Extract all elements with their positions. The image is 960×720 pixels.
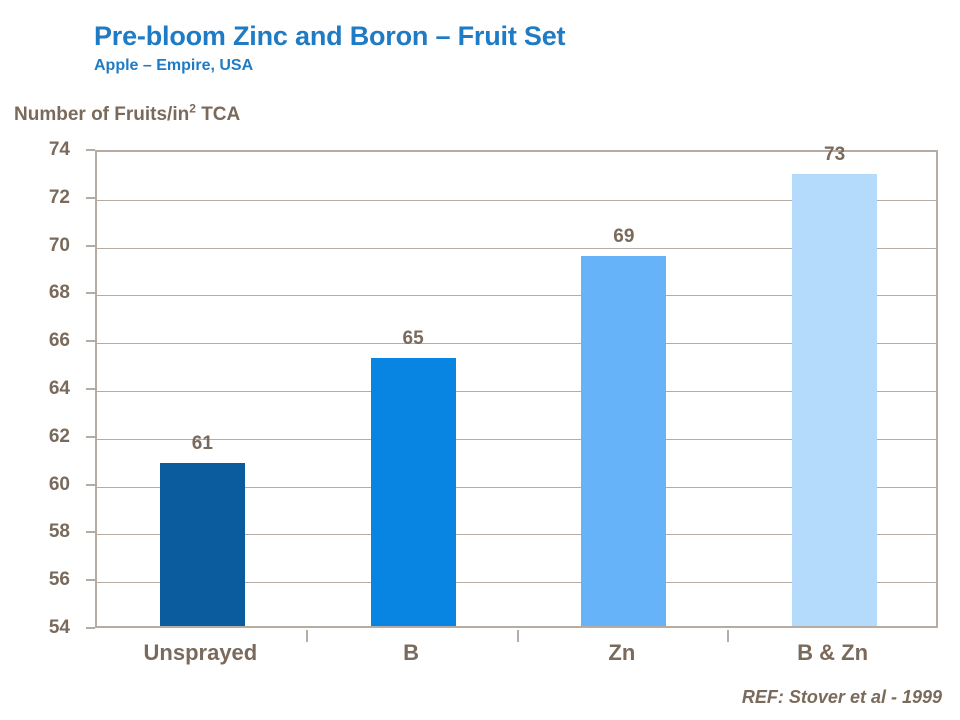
y-axis-tick-mark xyxy=(86,484,95,486)
y-axis-tick-mark xyxy=(86,627,95,629)
y-axis-tick-label: 72 xyxy=(26,187,70,209)
bar-value-label: 69 xyxy=(613,226,634,248)
bar[interactable] xyxy=(371,358,456,626)
y-axis-tick-mark xyxy=(86,388,95,390)
y-axis-tick-marks xyxy=(86,150,95,628)
x-axis-tick-label: B & Zn xyxy=(797,640,868,666)
bar-series: 61656973 xyxy=(97,152,936,626)
x-axis-tick-label: Unsprayed xyxy=(144,640,258,666)
y-axis-tick-mark xyxy=(86,531,95,533)
bar-value-label: 73 xyxy=(824,144,845,166)
title-block: Pre-bloom Zinc and Boron – Fruit Set App… xyxy=(94,22,914,75)
y-axis-tick-label: 74 xyxy=(26,139,70,161)
y-axis-title-superscript: 2 xyxy=(189,102,196,116)
y-axis-title-prefix: Number of Fruits/in xyxy=(14,104,189,125)
reference-note: REF: Stover et al - 1999 xyxy=(742,687,942,708)
y-axis-title: Number of Fruits/in2 TCA xyxy=(14,104,240,126)
slide-canvas: Pre-bloom Zinc and Boron – Fruit Set App… xyxy=(0,0,960,720)
y-axis-tick-label: 64 xyxy=(26,378,70,400)
bar[interactable] xyxy=(581,256,666,626)
y-axis-tick-label: 54 xyxy=(26,617,70,639)
y-axis-tick-label: 62 xyxy=(26,426,70,448)
y-axis-tick-mark xyxy=(86,245,95,247)
y-axis-tick-label: 66 xyxy=(26,330,70,352)
x-axis-tick-label: Zn xyxy=(608,640,635,666)
y-axis-tick-label: 70 xyxy=(26,235,70,257)
y-axis-tick-mark xyxy=(86,436,95,438)
y-axis-tick-labels: 5456586062646668707274 xyxy=(0,150,78,628)
y-axis-tick-mark xyxy=(86,292,95,294)
bar[interactable] xyxy=(792,174,877,626)
y-axis-tick-label: 60 xyxy=(26,474,70,496)
y-axis-tick-mark xyxy=(86,579,95,581)
x-axis-tick-labels: UnsprayedBZnB & Zn xyxy=(95,640,938,674)
page-subtitle: Apple – Empire, USA xyxy=(94,57,914,75)
bar[interactable] xyxy=(160,463,245,626)
y-axis-tick-label: 68 xyxy=(26,282,70,304)
bar-value-label: 61 xyxy=(192,433,213,455)
y-axis-tick-mark xyxy=(86,149,95,151)
plot-area: 61656973 xyxy=(95,150,938,628)
bar-value-label: 65 xyxy=(403,328,424,350)
y-axis-tick-mark xyxy=(86,340,95,342)
y-axis-tick-label: 58 xyxy=(26,521,70,543)
y-axis-title-suffix: TCA xyxy=(196,104,240,125)
y-axis-tick-label: 56 xyxy=(26,569,70,591)
y-axis-tick-mark xyxy=(86,197,95,199)
page-title: Pre-bloom Zinc and Boron – Fruit Set xyxy=(94,22,914,51)
x-axis-tick-label: B xyxy=(403,640,419,666)
